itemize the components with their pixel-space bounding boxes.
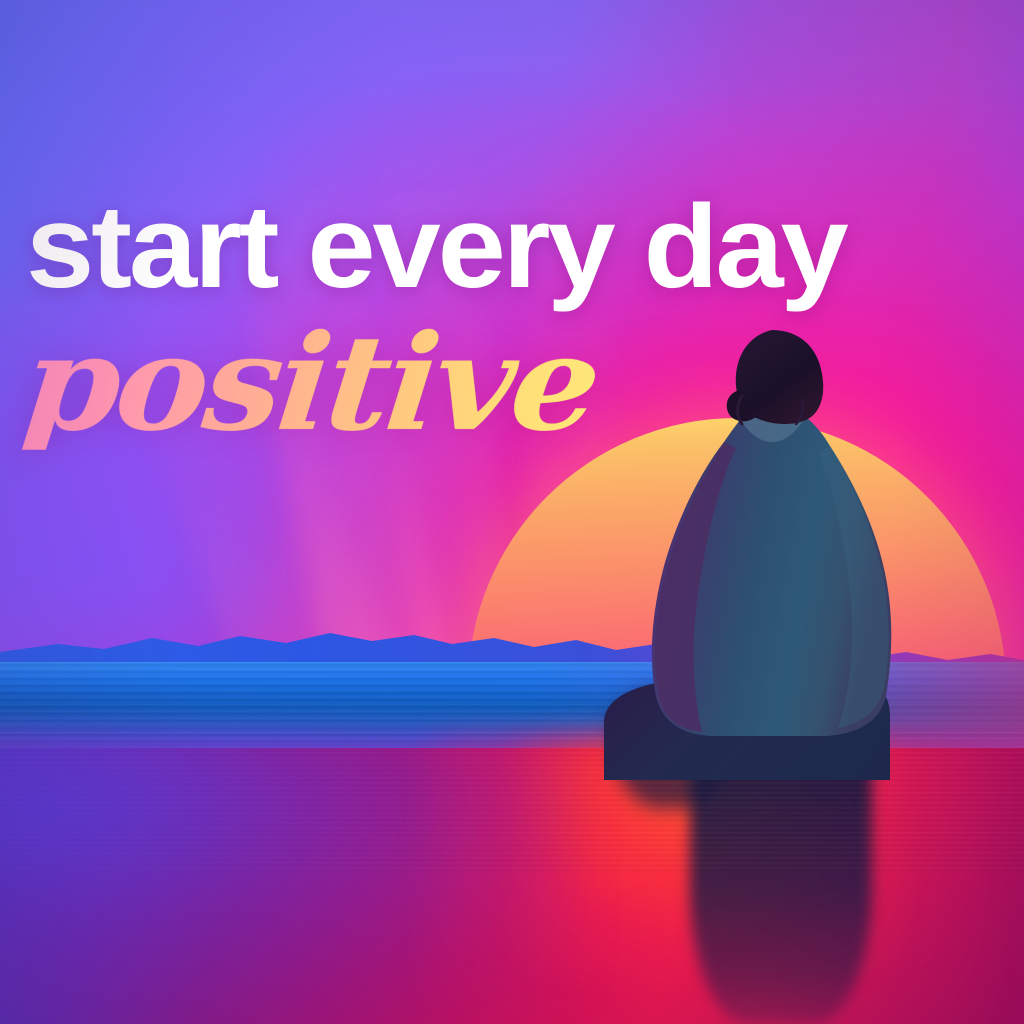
- headline-text: start every day: [26, 188, 1024, 306]
- poster-canvas: start every day positive: [0, 0, 1024, 1024]
- script-accent-text: positive: [17, 318, 603, 450]
- water-cool-haze-left: [0, 732, 573, 1022]
- seated-person-silhouette: [590, 330, 950, 780]
